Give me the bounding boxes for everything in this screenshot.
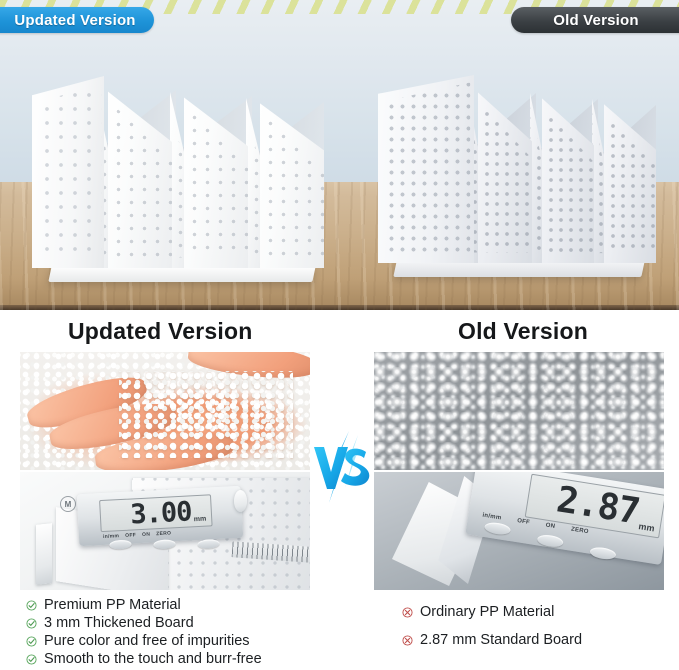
badge-old-version: Old Version [511,7,679,33]
heading-updated-version: Updated Version [68,318,252,345]
label-in-mm: in/mm [103,533,120,540]
organizer-divider-panel [246,98,260,268]
label-off: OFF [125,532,136,539]
check-circle-icon [26,636,37,647]
feature-label: Ordinary PP Material [420,604,554,620]
caliper-button [589,546,616,561]
comparison-panel-updated: M 3.00 mm in/mm OFF ON ZERO [20,352,310,590]
label-on: ON [142,532,150,538]
organizer-divider-panel [170,92,184,268]
caliper-thumb-screw [234,490,247,512]
vs-badge [311,430,371,504]
feature-item: Smooth to the touch and burr-free [26,650,262,668]
caliper-unit: mm [194,516,207,527]
photo-white-pp-pellets [20,352,310,470]
feature-item: Ordinary PP Material [402,598,582,626]
caliper-reading: 2.87 [554,482,641,530]
comparison-panel-old: 2.87 mm in/mm OFF ON ZERO [374,352,664,590]
caliper-button [484,521,511,536]
feature-label: 3 mm Thickened Board [44,615,194,631]
label-zero: ZERO [571,527,590,536]
organizer-base [48,266,315,282]
caliper-button [537,533,564,548]
check-circle-icon [26,600,37,611]
desk-edge [0,305,679,310]
caliper-scene: 2.87 mm in/mm OFF ON ZERO [374,472,664,590]
cross-circle-icon [402,635,413,646]
pellet-heap [119,371,293,458]
organizer-side-wall [378,75,474,263]
badge-updated-version: Updated Version [0,7,154,33]
feature-label: Premium PP Material [44,597,181,613]
caliper-reading: 3.00 [130,498,192,528]
perforation-pattern [32,76,104,268]
caliper-body: 2.87 mm in/mm OFF ON ZERO [465,472,664,565]
photo-gray-pp-pellets [374,352,664,470]
feature-label: Smooth to the touch and burr-free [44,651,262,667]
caliper-body: 3.00 mm in/mm OFF ON ZERO [77,486,243,547]
feature-list-updated: Premium PP Material 3 mm Thickened Board… [26,596,262,668]
photo-caliper-old: 2.87 mm in/mm OFF ON ZERO [374,472,664,590]
brand-logo-icon: M [60,496,76,512]
product-comparison-page: Updated Version Old Version Updated Vers… [0,0,679,670]
organizer-base [393,261,645,277]
feature-label: Pure color and free of impurities [44,633,250,649]
gray-pellets-texture [374,352,664,470]
perforation-pattern [170,92,184,268]
vs-text-icon [314,447,369,489]
caliper-scene: M 3.00 mm in/mm OFF ON ZERO [20,472,310,590]
heading-old-version: Old Version [458,318,588,345]
feature-list-old: Ordinary PP Material 2.87 mm Standard Bo… [402,598,582,654]
label-off: OFF [517,518,531,526]
hero-product-photo: Updated Version Old Version [0,0,679,310]
feature-item: 2.87 mm Standard Board [402,626,582,654]
caliper-button-labels: in/mm OFF ON ZERO [103,530,172,540]
check-circle-icon [26,654,37,665]
cross-circle-icon [402,607,413,618]
perforation-pattern [378,75,474,263]
feature-item: 3 mm Thickened Board [26,614,262,632]
photo-caliper-updated: M 3.00 mm in/mm OFF ON ZERO [20,472,310,590]
caliper-unit: mm [637,521,655,536]
product-image-old-organizer [378,55,660,277]
perforation-pattern [246,98,260,268]
feature-item: Pure color and free of impurities [26,632,262,650]
feature-label: 2.87 mm Standard Board [420,632,582,648]
caliper-display: 3.00 mm [99,494,213,532]
label-in-mm: in/mm [482,513,502,522]
label-zero: ZERO [156,530,171,537]
check-circle-icon [26,618,37,629]
product-image-updated-organizer [32,52,332,282]
caliper-jaw [36,523,52,585]
organizer-side-wall [32,76,104,268]
label-on: ON [545,523,555,530]
feature-item: Premium PP Material [26,596,262,614]
